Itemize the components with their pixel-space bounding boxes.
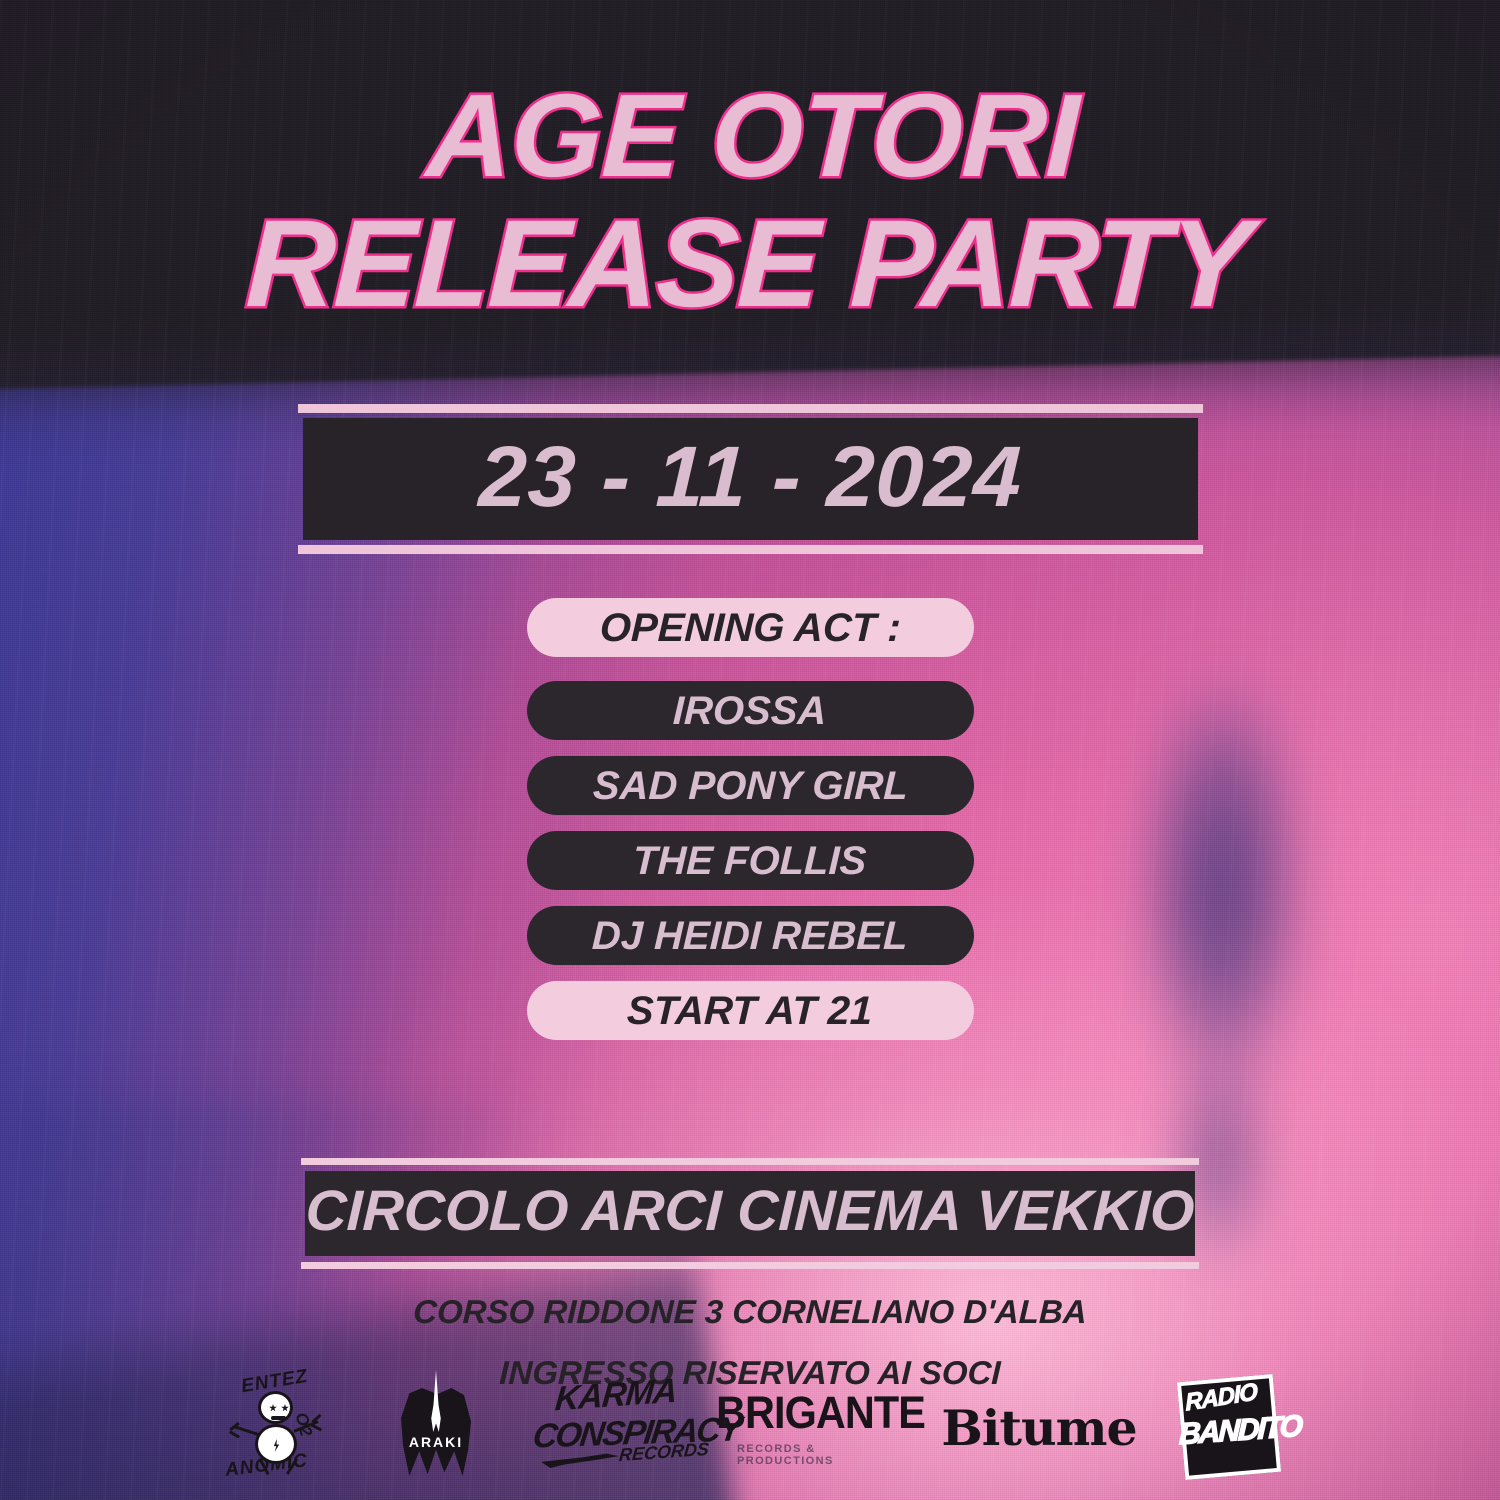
lineup-label: SAD PONY GIRL — [592, 766, 908, 806]
lineup-label: THE FOLLIS — [633, 841, 868, 881]
date-banner-bottom-rule — [298, 545, 1203, 554]
logo-radio-bandito: RADIO BANDITO — [1175, 1372, 1283, 1484]
lineup-label: DJ HEIDI REBEL — [591, 916, 908, 956]
venue-banner-bottom-rule — [301, 1262, 1199, 1269]
date-banner-top-rule — [298, 404, 1203, 413]
logo-araki: ARAKI — [393, 1372, 479, 1484]
snowman-head-icon — [258, 1391, 293, 1424]
logo-araki-label: ARAKI — [393, 1434, 479, 1450]
logo-brigante-name: BRIGANTE — [716, 1390, 925, 1435]
logo-radio-bandito-line-2: BANDITO — [1179, 1410, 1302, 1453]
logo-brigante-subtitle: RECORDS & PRODUCTIONS — [737, 1443, 903, 1467]
snowman-eye-icon — [269, 1404, 277, 1412]
lineup-pill-the-follis: THE FOLLIS — [527, 831, 974, 890]
lineup-label: IROSSA — [673, 691, 828, 731]
poster-headline: AGE OTORI RELEASE PARTY — [0, 78, 1500, 326]
venue-section: CIRCOLO ARCI CINEMA VEKKIO CORSO RIDDONE… — [0, 1158, 1500, 1389]
lineup-label: OPENING ACT : — [599, 608, 901, 648]
venue-name: CIRCOLO ARCI CINEMA VEKKIO — [304, 1183, 1196, 1240]
lineup-list: OPENING ACT : IROSSA SAD PONY GIRL THE F… — [0, 598, 1500, 1056]
venue-banner-box: CIRCOLO ARCI CINEMA VEKKIO — [305, 1171, 1195, 1256]
headline-line-2: RELEASE PARTY — [244, 203, 1251, 326]
date-banner-box: 23 - 11 - 2024 — [303, 418, 1198, 540]
logo-bitume-name: Bitume — [941, 1399, 1136, 1457]
event-poster: AGE OTORI RELEASE PARTY 23 - 11 - 2024 O… — [0, 0, 1500, 1500]
event-date: 23 - 11 - 2024 — [301, 434, 1199, 520]
logo-entez-anomico2: ENTEZ ANOMIC O2 — [217, 1369, 337, 1487]
venue-address: CORSO RIDDONE 3 CORNELIANO D'ALBA — [0, 1295, 1500, 1328]
snowman-eye-icon — [281, 1404, 289, 1412]
lineup-pill-opening-act: OPENING ACT : — [527, 598, 974, 657]
lineup-label: START AT 21 — [627, 991, 874, 1031]
logo-brigante: BRIGANTE RECORDS & PRODUCTIONS — [737, 1378, 903, 1478]
logo-bitume: Bitume — [959, 1382, 1119, 1474]
lineup-pill-dj-heidi-rebel: DJ HEIDI REBEL — [527, 906, 974, 965]
snowman-body-icon — [255, 1424, 297, 1464]
headline-line-1: AGE OTORI — [425, 78, 1080, 195]
date-banner: 23 - 11 - 2024 — [0, 404, 1500, 554]
snowman-mouth-icon — [271, 1416, 286, 1420]
snowman-twig-icon — [229, 1430, 240, 1438]
lineup-pill-irossa: IROSSA — [527, 681, 974, 740]
venue-banner-top-rule — [301, 1158, 1199, 1165]
logo-karma-conspiracy-records: KARMA CONSPIRACY RECORDS — [535, 1370, 681, 1486]
lineup-pill-start-time: START AT 21 — [527, 981, 974, 1040]
sponsor-logo-row: ENTEZ ANOMIC O2 — [0, 1364, 1500, 1492]
snowman-bolt-icon — [272, 1439, 281, 1452]
lineup-pill-sad-pony-girl: SAD PONY GIRL — [527, 756, 974, 815]
